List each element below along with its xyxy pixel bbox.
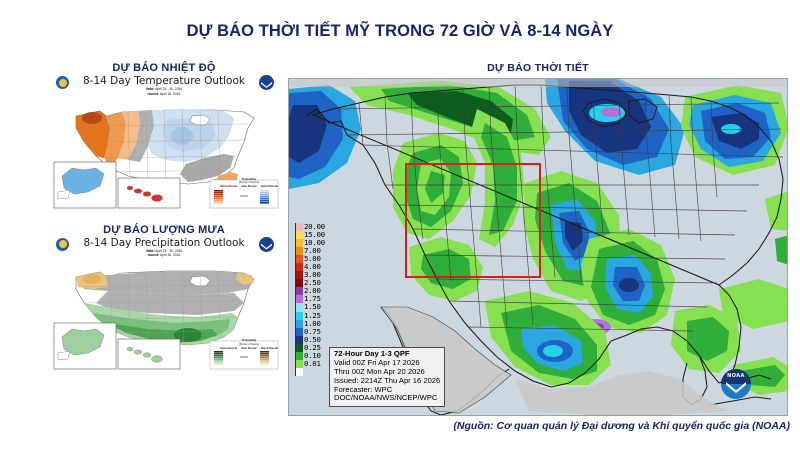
precipitation-legend-subtitle: (Percent Chance) [220,343,278,346]
colorbar-swatch [295,344,303,352]
noaa-logo-icon [259,237,274,252]
temperature-outlook-dates: Valid: April 24 - 30, 2026 Issued: April… [48,87,280,97]
colorbar-swatch [295,352,303,360]
precipitation-outlook-title-vi: DỰ BÁO LƯỢNG MƯA [48,224,280,236]
temp-issued-label: Issued: [148,92,160,96]
precip-issued-label: Issued: [148,253,160,257]
precipitation-outlook-block: DỰ BÁO LƯỢNG MƯA 8-14 Day Precipitation … [48,224,280,372]
colorbar-swatch [295,295,303,303]
cpc-logo-icon [56,76,69,89]
colorbar-swatch [295,271,303,279]
colorbar-swatch [295,320,303,328]
precipitation-outlook-dates: Valid: April 24 - 30, 2026 Issued: April… [48,249,280,259]
noaa-logo-icon: NOAA [721,369,751,399]
colorbar-swatch [295,368,303,376]
noaa-logo-icon [259,75,274,90]
colorbar-swatch [295,303,303,311]
temperature-legend-below: Below Normal [261,185,278,188]
precipitation-legend-above: Above Normal [220,347,237,350]
colorbar-swatch [295,263,303,271]
colorbar-swatch [295,255,303,263]
colorbar-swatch [295,336,303,344]
colorbar-swatch [295,287,303,295]
temperature-legend-above: Above Normal [220,185,237,188]
source-caption: (Nguồn: Cơ quan quản lý Đại dương và Khí… [0,420,790,432]
precip-issued-value: April 16, 2026 [160,253,180,257]
precip-valid-label: Valid: [146,249,155,253]
precipitation-legend-near: Near Normal [241,347,258,350]
temperature-outlook-title-en: 8-14 Day Temperature Outlook [48,75,280,87]
qpf-info-box: 72-Hour Day 1-3 QPF Valid 00Z Fri Apr 17… [329,347,445,407]
colorbar-swatch [295,360,303,368]
temperature-outlook-title-vi: DỰ BÁO NHIỆT ĐỘ [48,62,280,74]
temp-valid-value: April 24 - 30, 2026 [155,87,182,91]
temp-valid-label: Valid: [146,87,155,91]
colorbar-swatch [295,239,303,247]
colorbar-swatch [295,328,303,336]
temperature-legend-subtitle: (Percent Chance) [220,181,278,184]
temperature-outlook-block: DỰ BÁO NHIỆT ĐỘ 8-14 Day Temperature Out… [48,62,280,210]
colorbar-swatch [295,223,303,231]
noaa-logo-text: NOAA [721,373,751,379]
precip-valid-value: April 24 - 30, 2026 [155,249,182,253]
temp-issued-value: April 16, 2026 [160,92,180,96]
info-agency: DOC/NOAA/NWS/NCEP/WPC [334,394,440,403]
main-forecast-map[interactable]: 20.00 15.00 10.00 7.00 5.00 4.00 3.00 2.… [288,78,788,416]
precipitation-outlook-title-en: 8-14 Day Precipitation Outlook [48,237,280,249]
temperature-legend-near: Near Normal [241,185,258,188]
main-forecast-title: DỰ BÁO THỜI TIẾT [288,62,788,74]
page-title: DỰ BÁO THỜI TIẾT MỸ TRONG 72 GIỜ VÀ 8-14… [0,22,800,41]
colorbar-swatch [295,279,303,287]
precipitation-outlook-map: Probability (Percent Chance) Above Norma… [48,259,280,371]
colorbar-label: 0.01 [303,360,321,368]
precipitation-legend: Probability (Percent Chance) Above Norma… [220,339,278,369]
temperature-legend: Probability (Percent Chance) Above Norma… [220,178,278,208]
colorbar-swatch [295,312,303,320]
colorbar-swatch [295,247,303,255]
precipitation-legend-below: Below Normal [261,347,278,350]
colorbar-swatch [295,231,303,239]
temperature-outlook-map: Probability (Percent Chance) Above Norma… [48,98,280,210]
outlook-column: DỰ BÁO NHIỆT ĐỘ 8-14 Day Temperature Out… [48,62,280,371]
annotation-red-box [405,163,541,278]
cpc-logo-icon [56,238,69,251]
